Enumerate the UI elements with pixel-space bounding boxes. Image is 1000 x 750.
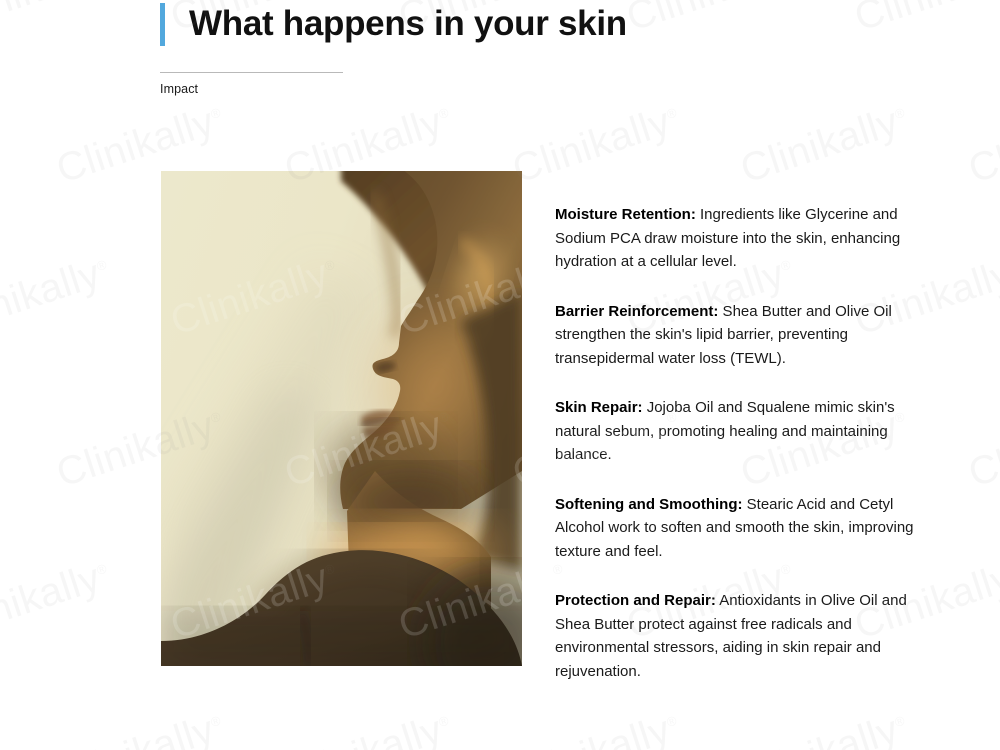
list-item: Protection and Repair: Antioxidants in O… bbox=[555, 589, 927, 683]
impact-term: Skin Repair: bbox=[555, 399, 643, 416]
list-item: Skin Repair: Jojoba Oil and Squalene mim… bbox=[555, 396, 927, 467]
impact-term: Barrier Reinforcement: bbox=[555, 303, 718, 320]
impact-term: Protection and Repair: bbox=[555, 592, 716, 609]
list-item: Moisture Retention: Ingredients like Gly… bbox=[555, 203, 927, 274]
list-item: Softening and Smoothing: Stearic Acid an… bbox=[555, 493, 927, 564]
content-area: Moisture Retention: Ingredients like Gly… bbox=[0, 0, 1000, 750]
list-item: Barrier Reinforcement: Shea Butter and O… bbox=[555, 300, 927, 371]
impact-term: Softening and Smoothing: bbox=[555, 496, 742, 513]
hero-photo-artwork bbox=[161, 171, 522, 666]
impact-term: Moisture Retention: bbox=[555, 206, 696, 223]
hero-photo bbox=[161, 171, 522, 666]
impact-list: Moisture Retention: Ingredients like Gly… bbox=[555, 188, 927, 683]
